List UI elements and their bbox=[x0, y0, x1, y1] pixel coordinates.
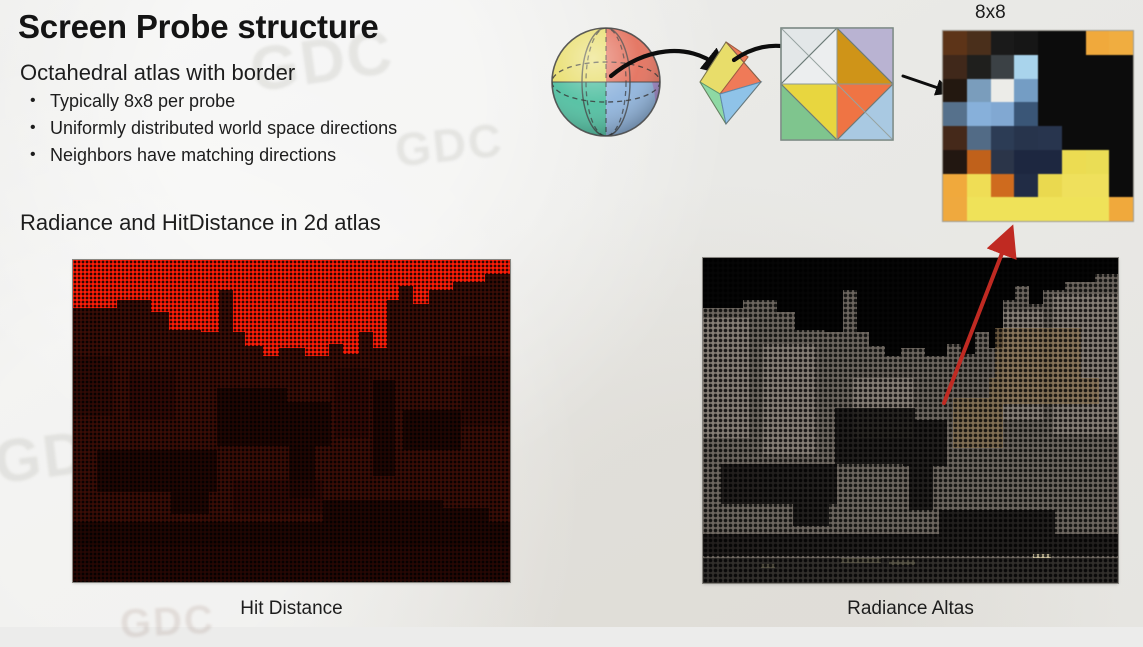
probe-texel bbox=[1038, 197, 1062, 221]
octahedral-mapping-diagram bbox=[548, 14, 948, 154]
radiance-atlas-image bbox=[703, 258, 1118, 583]
probe-texel bbox=[1109, 150, 1133, 174]
probe-texel bbox=[1109, 55, 1133, 79]
probe-texel bbox=[1038, 55, 1062, 79]
probe-texel-grid bbox=[943, 31, 1133, 221]
probe-texel bbox=[967, 174, 991, 198]
probe-texel bbox=[1038, 150, 1062, 174]
probe-texel bbox=[1086, 102, 1110, 126]
probe-texel bbox=[943, 102, 967, 126]
probe-texel bbox=[943, 31, 967, 55]
probe-texel bbox=[1062, 31, 1086, 55]
probe-texel bbox=[967, 150, 991, 174]
probe-texel bbox=[1086, 126, 1110, 150]
probe-texel bbox=[991, 126, 1015, 150]
bullet-list: Typically 8x8 per probe Uniformly distri… bbox=[22, 88, 397, 169]
probe-texel bbox=[943, 126, 967, 150]
list-item: Typically 8x8 per probe bbox=[22, 88, 397, 115]
probe-texel bbox=[1014, 55, 1038, 79]
probe-texel bbox=[1014, 102, 1038, 126]
probe-texel bbox=[1014, 126, 1038, 150]
probe-texel bbox=[991, 174, 1015, 198]
probe-texel bbox=[1109, 31, 1133, 55]
probe-texel bbox=[991, 79, 1015, 103]
probe-texel bbox=[1038, 79, 1062, 103]
probe-texel bbox=[1038, 102, 1062, 126]
probe-texel bbox=[1062, 102, 1086, 126]
probe-texel bbox=[967, 126, 991, 150]
probe-texel bbox=[967, 102, 991, 126]
probe-texel bbox=[967, 55, 991, 79]
probe-texel bbox=[1109, 79, 1133, 103]
probe-texel bbox=[1109, 174, 1133, 198]
probe-texel bbox=[991, 150, 1015, 174]
probe-dither-overlay bbox=[703, 258, 1118, 583]
probe-texel bbox=[1062, 174, 1086, 198]
probe-dither-overlay bbox=[73, 260, 510, 582]
list-item: Uniformly distributed world space direct… bbox=[22, 115, 397, 142]
caption-radiance: Radiance Altas bbox=[703, 598, 1118, 620]
probe-texel bbox=[991, 102, 1015, 126]
probe-texel bbox=[1038, 126, 1062, 150]
probe-texel bbox=[1014, 174, 1038, 198]
probe-texel bbox=[1109, 102, 1133, 126]
probe-texel bbox=[1109, 126, 1133, 150]
probe-texel bbox=[1038, 174, 1062, 198]
section-lead: Octahedral atlas with border bbox=[20, 60, 295, 86]
sphere-icon bbox=[552, 28, 660, 136]
probe-texel bbox=[967, 79, 991, 103]
probe-texel bbox=[943, 197, 967, 221]
probe-texel bbox=[1014, 31, 1038, 55]
probe-texel bbox=[943, 150, 967, 174]
probe-texel bbox=[967, 31, 991, 55]
probe-texel bbox=[1086, 197, 1110, 221]
probe-texel bbox=[1038, 31, 1062, 55]
probe-texel bbox=[943, 79, 967, 103]
list-item: Neighbors have matching directions bbox=[22, 142, 397, 169]
grid-size-label: 8x8 bbox=[975, 2, 1006, 24]
probe-texel bbox=[991, 197, 1015, 221]
probe-texel bbox=[1062, 79, 1086, 103]
diagram-svg bbox=[548, 14, 948, 154]
probe-texel bbox=[1014, 150, 1038, 174]
probe-texel bbox=[1062, 197, 1086, 221]
probe-texel bbox=[991, 31, 1015, 55]
probe-texel bbox=[943, 55, 967, 79]
probe-texel bbox=[1109, 197, 1133, 221]
arrow-square-to-texels bbox=[903, 76, 944, 90]
probe-texel bbox=[1086, 55, 1110, 79]
probe-texel bbox=[1062, 126, 1086, 150]
probe-texel bbox=[1086, 31, 1110, 55]
probe-texel bbox=[1086, 79, 1110, 103]
hit-distance-atlas-image bbox=[73, 260, 510, 582]
probe-texel bbox=[1086, 150, 1110, 174]
probe-texel bbox=[967, 197, 991, 221]
octahedral-atlas-square bbox=[781, 28, 893, 140]
probe-texel bbox=[1014, 197, 1038, 221]
probe-texel bbox=[1062, 55, 1086, 79]
probe-texel bbox=[1062, 150, 1086, 174]
section-subline: Radiance and HitDistance in 2d atlas bbox=[20, 210, 381, 236]
probe-texel bbox=[991, 55, 1015, 79]
page-title: Screen Probe structure bbox=[18, 8, 379, 46]
octahedron-icon bbox=[700, 42, 761, 124]
probe-texel bbox=[943, 174, 967, 198]
probe-texel bbox=[1014, 79, 1038, 103]
probe-texel bbox=[1086, 174, 1110, 198]
caption-hit-distance: Hit Distance bbox=[73, 598, 510, 620]
